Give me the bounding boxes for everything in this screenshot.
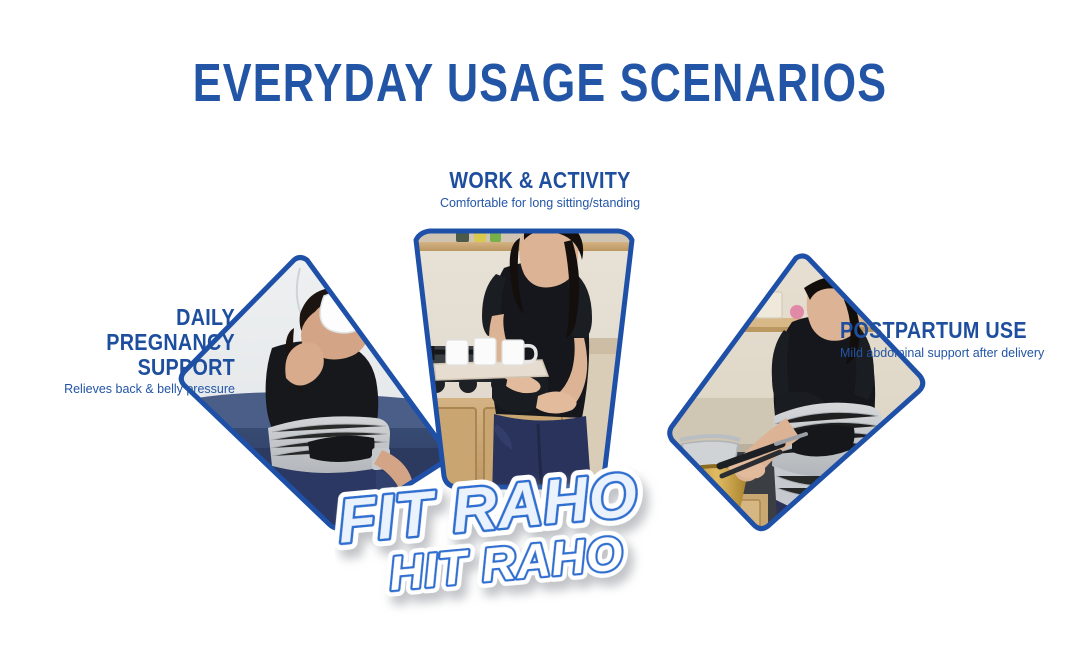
callout-subtitle: Relieves back & belly pressure <box>20 382 235 396</box>
callout-title: WORK & ACTIVITY <box>394 168 686 193</box>
top-left-blue-corner <box>0 0 420 230</box>
page-title: EVERYDAY USAGE SCENARIOS <box>108 56 972 110</box>
top-right-blue-corner <box>660 0 1080 230</box>
callout-title: DAILY PREGNANCY SUPPORT <box>50 305 235 379</box>
callout-subtitle: Mild abdominal support after delivery <box>840 346 1076 360</box>
callout-title: POSTPARTUM USE <box>840 318 1043 343</box>
infographic-canvas: EVERYDAY USAGE SCENARIOS <box>0 0 1080 668</box>
callout-work-and-activity: WORK & ACTIVITY Comfortable for long sit… <box>370 168 710 210</box>
callout-subtitle: Comfortable for long sitting/standing <box>370 196 710 210</box>
callout-daily-pregnancy-support: DAILY PREGNANCY SUPPORT Relieves back & … <box>20 305 235 396</box>
callout-postpartum-use: POSTPARTUM USE Mild abdominal support af… <box>840 318 1076 360</box>
